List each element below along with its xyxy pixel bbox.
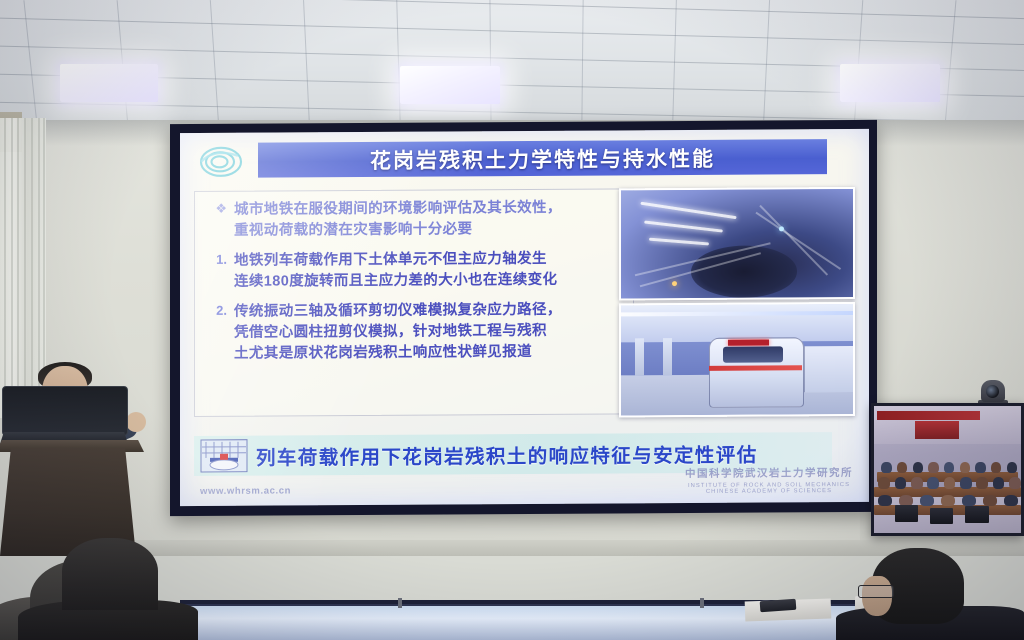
desk-microphone-left <box>398 598 402 608</box>
monitor-audience-person <box>1004 495 1017 506</box>
slide-bullet: 1.地铁列车荷载作用下土体单元不但主应力轴发生连续180度旋转而且主应力差的大小… <box>201 248 627 293</box>
slide-watermark-url: www.whrsm.ac.cn <box>200 485 291 497</box>
projection-screen: 花岗岩残积土力学特性与持水性能 ❖城市地铁在服役期间的环境影响评估及其长效性，重… <box>170 120 877 516</box>
attendee-left-second <box>62 538 158 610</box>
confidence-monitor[interactable] <box>871 403 1024 536</box>
suspended-ceiling <box>0 0 1024 126</box>
ceiling-grid-line <box>489 0 491 126</box>
monitor-audience-person <box>941 495 954 506</box>
ceiling-grid-line <box>117 0 129 126</box>
monitor-audience-person <box>878 477 890 488</box>
monitor-audience-person <box>944 462 954 473</box>
wall-baseboard <box>0 540 1024 556</box>
monitor-audience-person <box>927 477 939 488</box>
slide-bullet: ❖城市地铁在服役期间的环境影响评估及其长效性，重视动荷载的潜在灾害影响十分必要 <box>201 197 627 242</box>
laptop-screen <box>2 386 128 436</box>
ceiling-grid-line <box>854 0 864 126</box>
ceiling-grid-line <box>0 0 1024 21</box>
ceiling-grid-line <box>581 0 583 126</box>
slide-title-bar: 花岗岩残积土力学特性与持水性能 <box>258 139 827 177</box>
ceiling-grid-line <box>672 0 677 126</box>
bullet-line: 地铁列车荷载作用下土体单元不但主应力轴发生 <box>234 248 627 271</box>
bullet-line: 城市地铁在服役期间的环境影响评估及其长效性， <box>234 197 627 220</box>
slide-body-box: ❖城市地铁在服役期间的环境影响评估及其长效性，重视动荷载的潜在灾害影响十分必要1… <box>194 188 634 417</box>
monitor-laptop <box>930 508 954 525</box>
desk-microphone-right <box>700 598 704 608</box>
bullet-marker: ❖ <box>201 200 234 242</box>
bullet-text: 城市地铁在服役期间的环境影响评估及其长效性，重视动荷载的潜在灾害影响十分必要 <box>234 197 627 241</box>
monitor-audience-person <box>881 462 891 473</box>
monitor-laptop <box>965 506 989 523</box>
ceiling-grid-line <box>0 17 1024 47</box>
monitor-laptop <box>895 505 919 522</box>
ceiling-grid-line <box>396 0 401 126</box>
monitor-audience-person <box>976 477 988 488</box>
bullet-text: 传统振动三轴及循环剪切仪难模拟复杂应力路径，凭借空心圆柱扭剪仪模拟，针对地铁工程… <box>234 299 627 364</box>
bullet-line: 凭借空心圆柱扭剪仪模拟，针对地铁工程与残积 <box>234 320 627 343</box>
monitor-audience-person <box>993 477 1005 488</box>
slide-bullet: 2.传统振动三轴及循环剪切仪难模拟复杂应力路径，凭借空心圆柱扭剪仪模拟，针对地铁… <box>201 299 627 365</box>
lab-apparatus-icon <box>198 438 250 474</box>
camera-lens-icon <box>986 385 999 398</box>
monitor-audience-person <box>960 462 970 473</box>
spiral-swirl-logo-icon <box>198 142 244 182</box>
bullet-line: 传统振动三轴及循环剪切仪难模拟复杂应力路径， <box>234 299 627 322</box>
slide-title: 花岗岩残积土力学特性与持水性能 <box>370 142 715 174</box>
institute-credit: 中国科学院武汉岩土力学研究所 INSTITUTE OF ROCK AND SOI… <box>685 465 853 495</box>
monitor-audience-person <box>983 495 996 506</box>
monitor-audience-person <box>1007 462 1017 473</box>
metro-train-platform-photo <box>619 302 855 417</box>
monitor-audience-person <box>895 477 907 488</box>
attendee-right-glasses-icon <box>858 585 894 598</box>
ceiling-light-panel <box>400 66 500 104</box>
ceiling-light-panel <box>840 64 940 102</box>
monitor-audience-person <box>1009 477 1021 488</box>
conference-room-photo: 花岗岩残积土力学特性与持水性能 ❖城市地铁在服役期间的环境影响评估及其长效性，重… <box>0 0 1024 640</box>
monitor-audience-person <box>991 462 1001 473</box>
monitor-audience-person <box>878 495 891 506</box>
monitor-audience-person <box>920 495 933 506</box>
monitor-audience-person <box>960 477 972 488</box>
presenter-laptop[interactable] <box>0 386 128 446</box>
monitor-audience-person <box>897 462 907 473</box>
monitor-audience-person <box>911 477 923 488</box>
presenter-gesturing-hand <box>126 412 146 432</box>
ceiling-light-panel <box>60 64 158 102</box>
monitor-audience-person <box>944 477 956 488</box>
ceiling-grid-line <box>945 0 957 126</box>
institute-name-cn: 中国科学院武汉岩土力学研究所 <box>685 465 853 481</box>
monitor-audience-person <box>975 462 985 473</box>
monitor-audience-person <box>962 495 975 506</box>
bullet-line: 土尤其是原状花岗岩残积土响应性状鲜见报道 <box>234 341 627 364</box>
bullet-marker: 2. <box>201 302 234 365</box>
monitor-screen-audience-feed <box>874 406 1021 533</box>
subway-tunnel-photo <box>619 187 855 300</box>
bullet-line: 连续180度旋转而且主应力差的大小也在连续变化 <box>234 269 627 292</box>
institute-name-en-line2: CHINESE ACADEMY OF SCIENCES <box>685 488 853 495</box>
presentation-slide: 花岗岩残积土力学特性与持水性能 ❖城市地铁在服役期间的环境影响评估及其长效性，重… <box>180 129 869 506</box>
banner-title: 列车荷载作用下花岗岩残积土的响应特征与安定性评估 <box>256 438 758 470</box>
bullet-line: 重视动荷载的潜在灾害影响十分必要 <box>234 218 627 241</box>
monitor-audience-person <box>928 462 938 473</box>
bullet-text: 地铁列车荷载作用下土体单元不但主应力轴发生连续180度旋转而且主应力差的大小也在… <box>234 248 627 292</box>
monitor-audience-person <box>913 462 923 473</box>
bullet-marker: 1. <box>201 251 234 293</box>
